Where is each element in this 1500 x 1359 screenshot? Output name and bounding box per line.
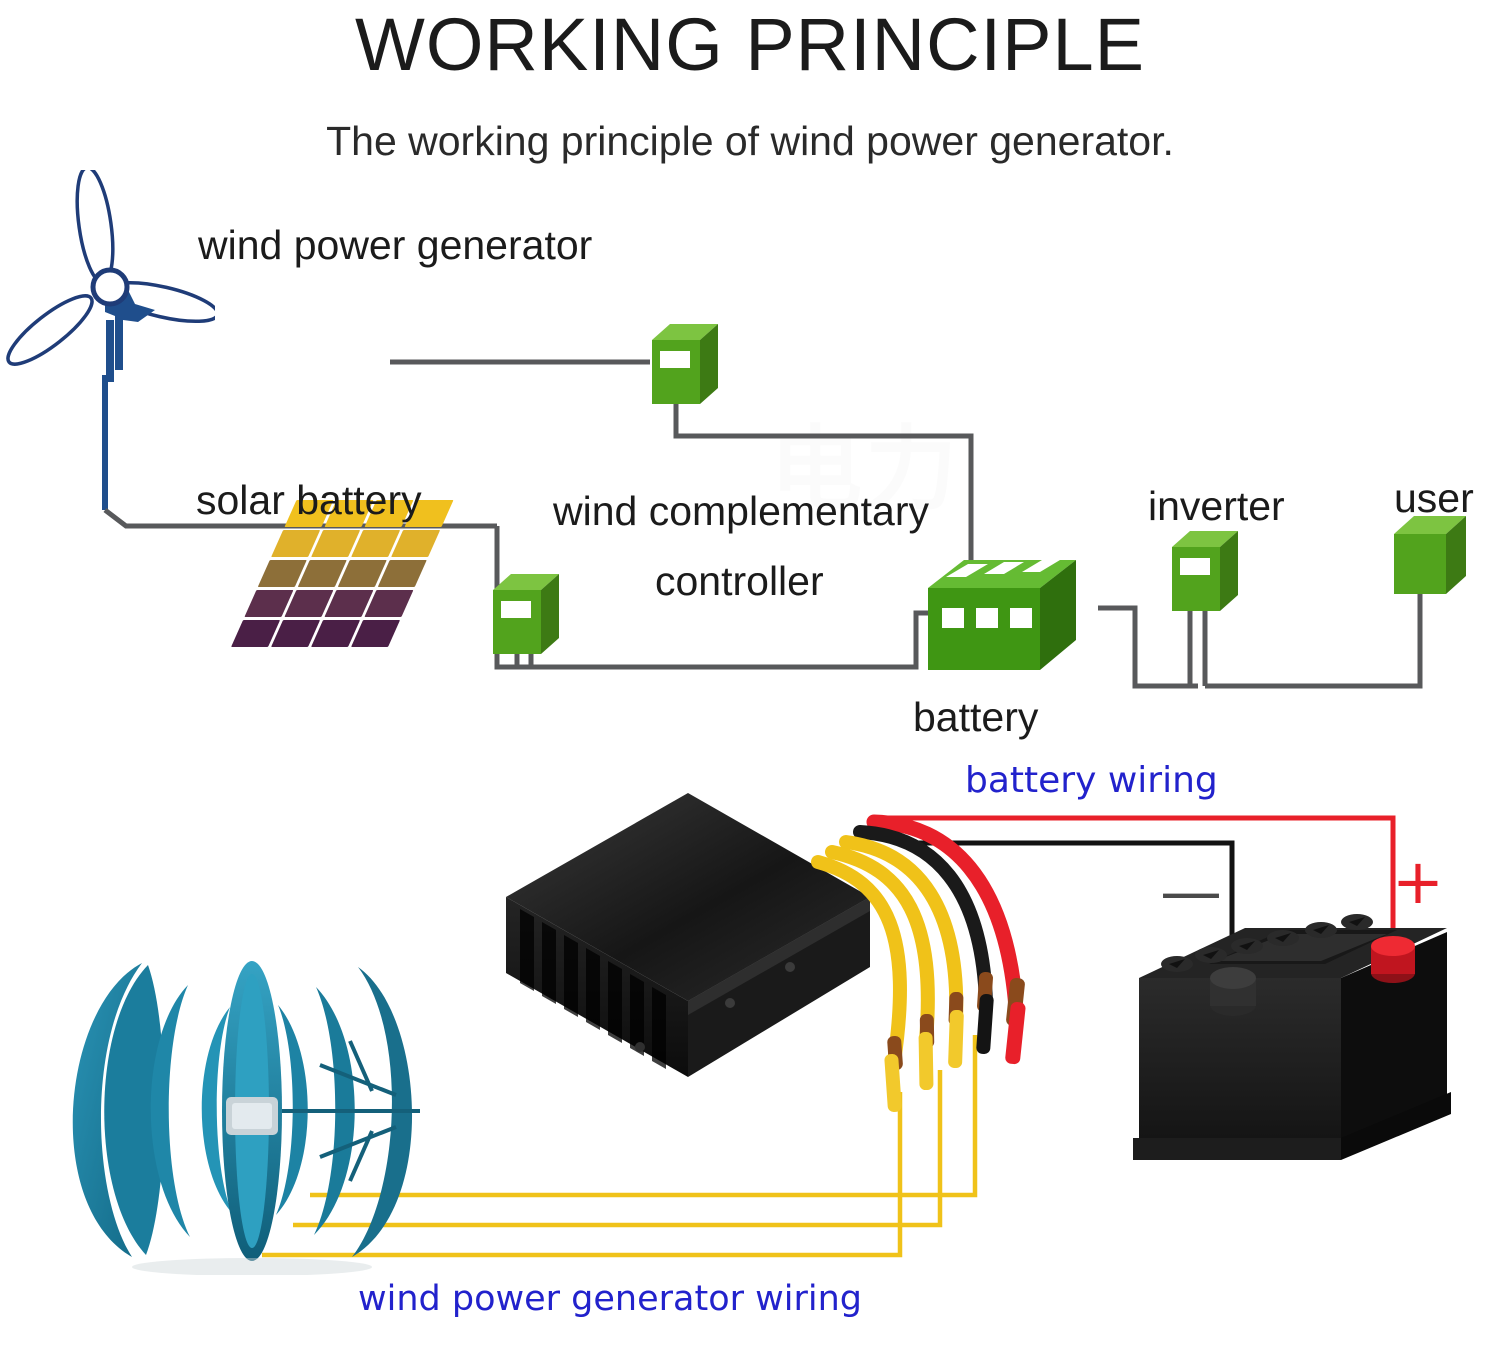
working-principle-infographic: WORKING PRINCIPLE The working principle … (0, 0, 1500, 1359)
wind-generator-wiring-annotation: wind power generator wiring (0, 1280, 1220, 1319)
solar-panel-row (255, 558, 428, 588)
page-subtitle: The working principle of wind power gene… (0, 118, 1500, 165)
solar-panel-row (229, 618, 402, 648)
label-user: user (1394, 475, 1474, 522)
negative-terminal-sign: — (1160, 855, 1222, 928)
label-battery: battery (913, 694, 1038, 741)
system-schematic-diagram: 电力 (0, 170, 1500, 750)
wiring-photo-diagram: wind power generator wiring terminal bat… (0, 740, 1500, 1359)
label-solar-battery: solar battery (196, 477, 422, 524)
wind-turbine-icon (5, 170, 215, 385)
battery-wiring-annotation: battery wiring (965, 760, 1218, 801)
label-inverter: inverter (1148, 483, 1285, 530)
label-wind-complementary: wind complementary (553, 488, 929, 535)
positive-terminal-sign: + (1392, 845, 1444, 918)
solar-panel-row (242, 588, 415, 618)
controller-wire-leads (810, 770, 1090, 1130)
label-controller: controller (655, 558, 824, 605)
vertical-wind-turbine-photo (20, 945, 480, 1275)
page-title: WORKING PRINCIPLE (0, 2, 1500, 87)
label-wind-power-generator: wind power generator (198, 222, 592, 269)
solar-panel-row (269, 528, 442, 558)
